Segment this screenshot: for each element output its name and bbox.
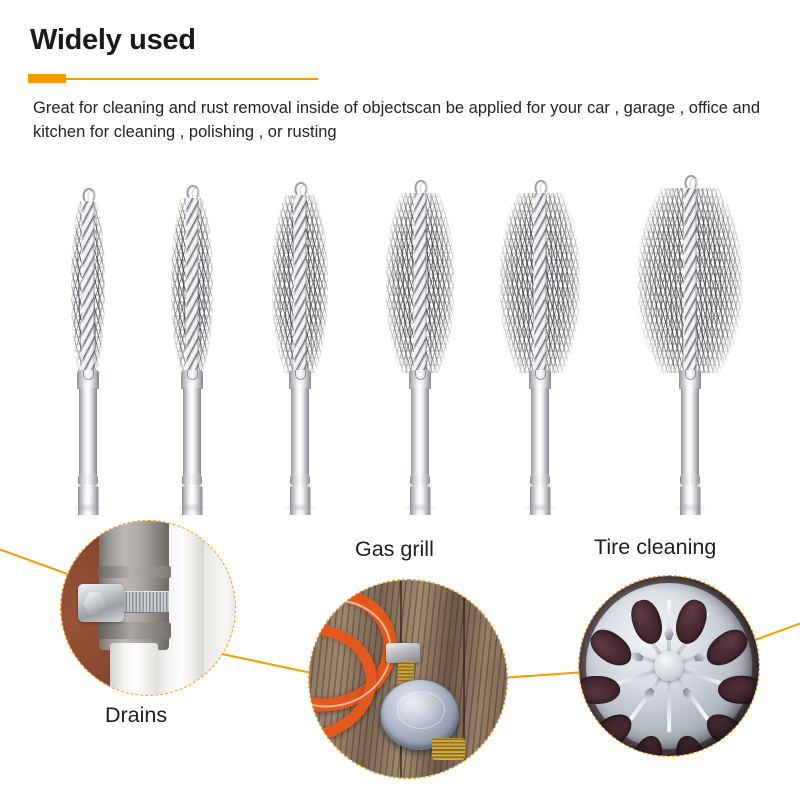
brush-bristle-head (272, 195, 328, 373)
gas-grill-photo (309, 580, 507, 778)
hex-shank (180, 370, 204, 505)
brush-bristle-head (500, 193, 580, 373)
page-title: Widely used (30, 24, 196, 57)
shank-collar (77, 370, 99, 389)
lower-white-pipe (110, 643, 159, 696)
shank-collar (529, 370, 551, 389)
wire-brush-1 (36, 175, 140, 505)
tire-shading (579, 576, 759, 756)
brush-bristle-head (386, 193, 454, 373)
twisted-wire-core (294, 195, 307, 373)
application-circle-gas-grill[interactable] (308, 579, 508, 779)
wire-tip-loop-icon (534, 180, 547, 195)
brass-coupling-ring (432, 738, 466, 760)
connector-line-1-to-2 (222, 653, 316, 675)
connector-line-left (0, 547, 68, 574)
shank-collar (409, 370, 431, 389)
wire-brush-6 (620, 175, 760, 505)
shank-body (531, 388, 549, 475)
application-examples: Drains Gas grill Tire cleaning (0, 505, 800, 800)
product-lineup (0, 160, 800, 505)
brush-bristle-head (71, 201, 105, 373)
accent-block (28, 74, 66, 83)
twisted-wire-core (82, 201, 95, 373)
wire-brush-2 (140, 175, 244, 505)
accent-line (66, 78, 318, 80)
shank-body (411, 388, 429, 475)
shank-body (79, 388, 97, 475)
brush-bristle-head (638, 188, 742, 373)
application-label-drains: Drains (105, 703, 167, 728)
wall-background (204, 520, 236, 696)
wire-brush-3 (248, 175, 352, 505)
application-label-gas-grill: Gas grill (355, 537, 434, 562)
connector-line-2-to-3 (500, 671, 582, 678)
pipe-ring-upper (98, 566, 171, 578)
application-circle-drains[interactable] (60, 520, 236, 696)
hose-clamp (386, 643, 420, 663)
hex-shank (528, 370, 552, 505)
wire-tip-loop-icon (186, 185, 199, 200)
shank-collar (679, 370, 701, 389)
pipe-ring-lower (98, 622, 171, 639)
infographic-page: Widely used Great for cleaning and rust … (0, 0, 800, 800)
connector-line-right (752, 620, 800, 642)
application-circle-tire-cleaning[interactable] (578, 575, 760, 757)
wire-brush-5 (480, 175, 600, 505)
accent-divider (28, 72, 318, 84)
twisted-wire-core (414, 193, 427, 373)
shank-body (291, 388, 309, 475)
shank-collar (289, 370, 311, 389)
hex-shank (408, 370, 432, 505)
wire-tip-loop-icon (294, 182, 307, 197)
twisted-wire-core (684, 188, 697, 373)
application-label-tire-cleaning: Tire cleaning (594, 535, 716, 560)
twisted-wire-core (534, 193, 547, 373)
page-description: Great for cleaning and rust removal insi… (33, 96, 773, 144)
wire-brush-4 (360, 175, 480, 505)
wire-tip-loop-icon (684, 175, 697, 190)
hex-shank (76, 370, 100, 505)
shank-body (183, 388, 201, 475)
hex-shank (678, 370, 702, 505)
drain-pipe-photo (61, 521, 235, 695)
wire-tip-loop-icon (82, 188, 95, 203)
shank-collar (181, 370, 203, 389)
twisted-wire-core (186, 198, 199, 373)
alloy-wheel-photo (579, 576, 759, 756)
wire-tip-loop-icon (414, 180, 427, 195)
shank-body (681, 388, 699, 475)
brush-bristle-head (171, 198, 213, 373)
hex-shank (288, 370, 312, 505)
